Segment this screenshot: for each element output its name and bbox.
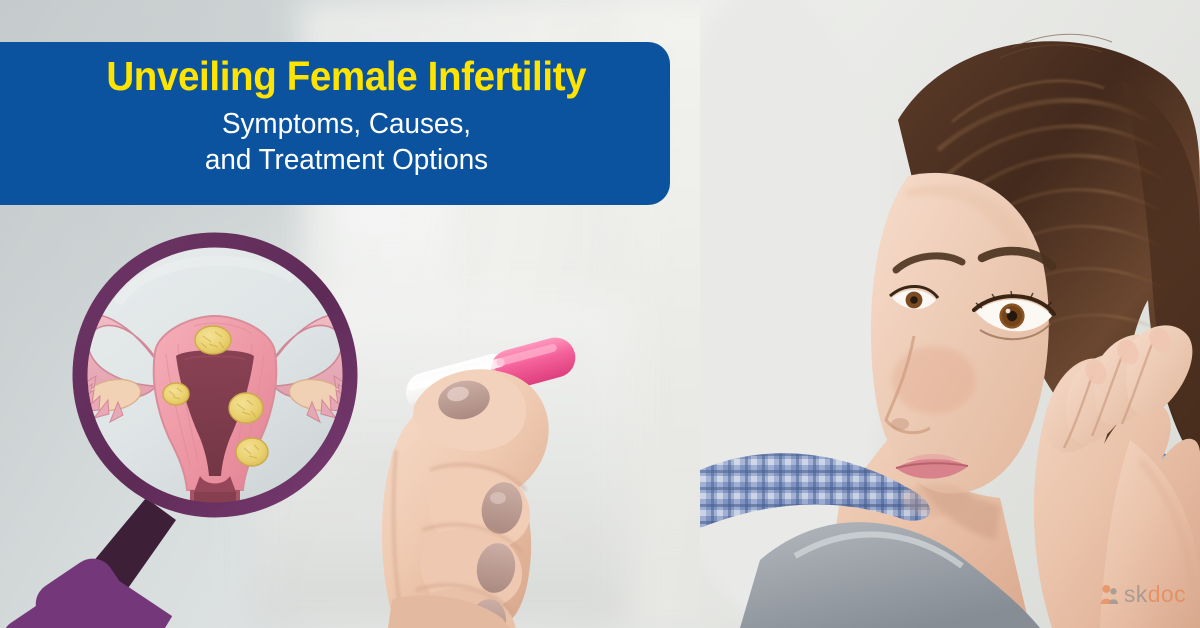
header-banner: Unveiling Female Infertility Symptoms, C… bbox=[0, 42, 670, 205]
woman-photo bbox=[700, 0, 1200, 628]
subtitle-line-1: Symptoms, Causes, bbox=[204, 106, 487, 143]
subtitle-line-2: and Treatment Options bbox=[204, 142, 487, 179]
page-subtitle: Symptoms, Causes, and Treatment Options bbox=[204, 106, 487, 179]
banner-canvas: Unveiling Female Infertility Symptoms, C… bbox=[0, 0, 1200, 628]
magnifying-glass bbox=[0, 190, 420, 628]
magnifier-handle bbox=[0, 498, 176, 628]
page-title: Unveiling Female Infertility bbox=[106, 54, 586, 100]
